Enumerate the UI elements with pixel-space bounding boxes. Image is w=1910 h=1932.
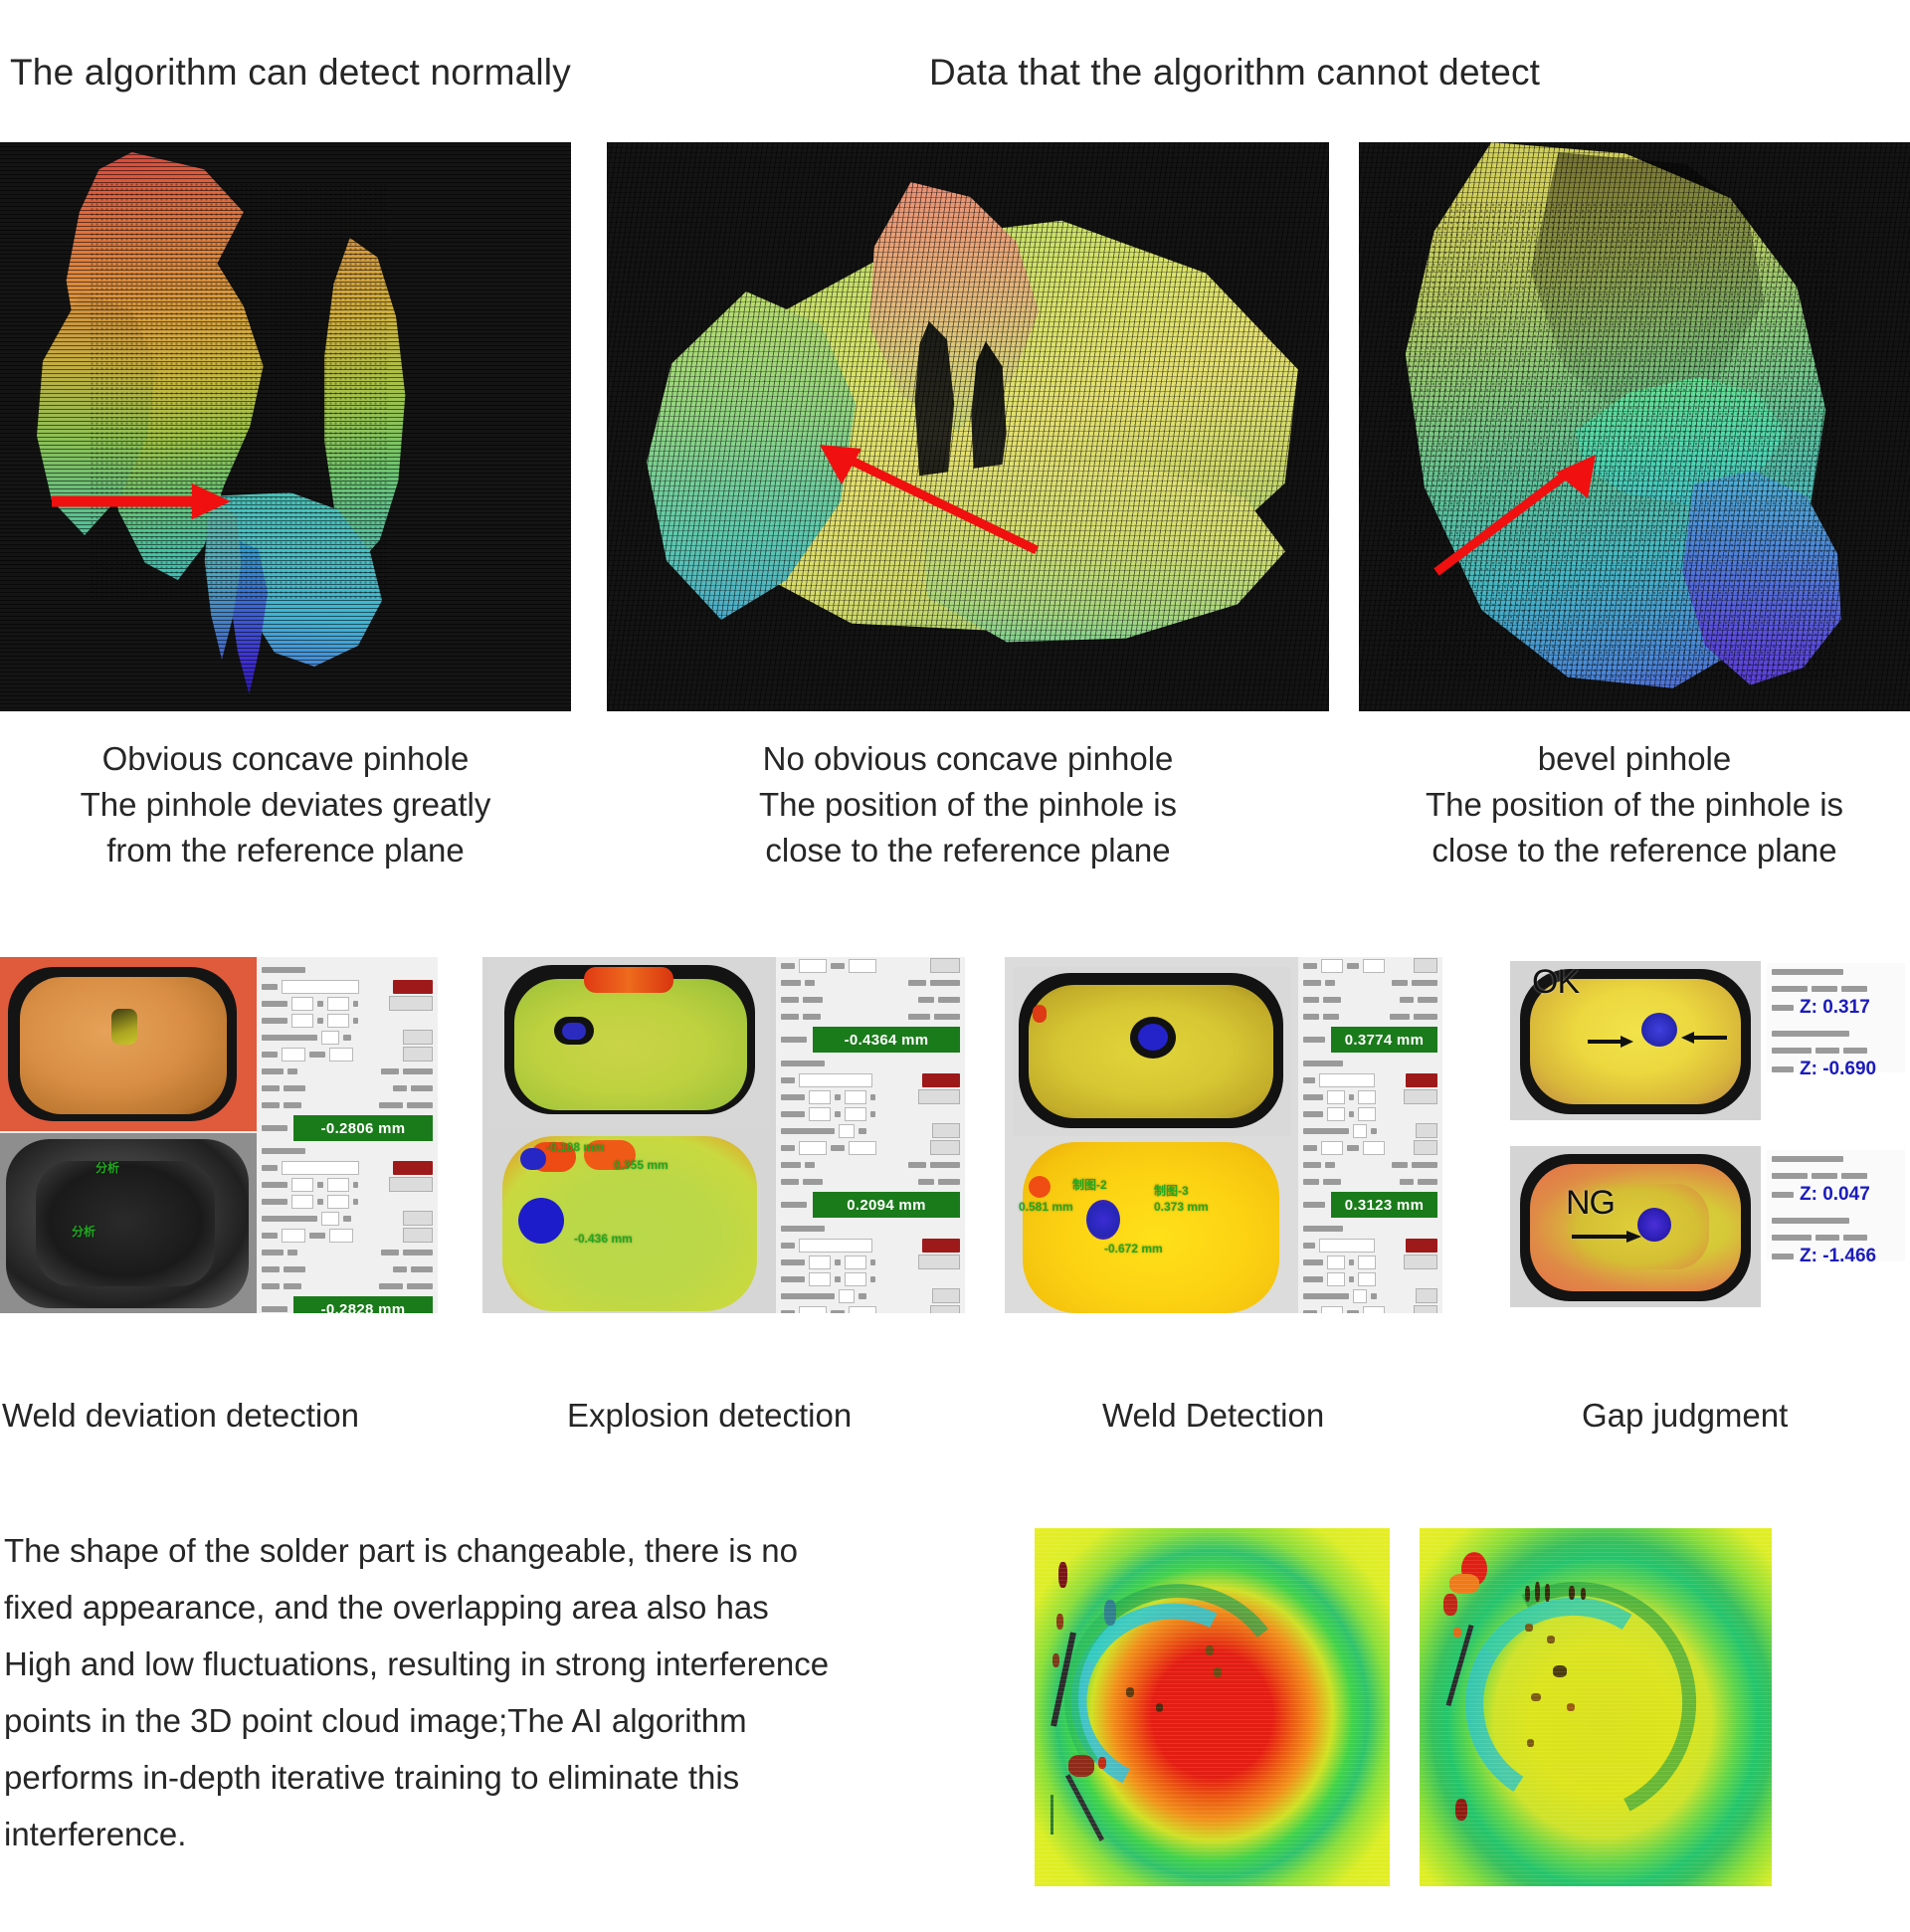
measurement-form-2: -0.4364 mm 0.2094 mm [776, 957, 965, 1313]
inspection-caption-2: Explosion detection [567, 1397, 852, 1435]
gap-sample-image-ng: NG [1510, 1146, 1761, 1307]
paragraph-line: fixed appearance, and the overlapping ar… [4, 1579, 1009, 1636]
inspection-caption-3: Weld Detection [1102, 1397, 1324, 1435]
sample-image-bottom: 制图-2 制图-3 0.581 mm 0.373 mm -0.672 mm [1013, 1142, 1291, 1313]
sample-images-2: -0.108 mm 0.355 mm -0.436 mm [482, 957, 776, 1313]
gap-readout-ok: Z: 0.317 Z: -0.690 [1767, 963, 1905, 1072]
measurement-form-3: 0.3774 mm 0.3123 mm [1298, 957, 1442, 1313]
black-arrow-right-ok [1677, 1031, 1727, 1045]
z-value: Z: 0.317 [1800, 997, 1870, 1019]
pointcloud-caption-1: Obvious concave pinhole The pinhole devi… [0, 736, 571, 873]
measurement-result: -0.4364 mm [813, 1027, 960, 1053]
caption-line: No obvious concave pinhole [597, 736, 1339, 782]
gap-sample-image-ok: OK [1510, 961, 1761, 1120]
green-annotation: -0.108 mm [546, 1140, 605, 1154]
paragraph-line: points in the 3D point cloud image;The A… [4, 1692, 1009, 1749]
section-headers: The algorithm can detect normally Data t… [0, 52, 1910, 101]
measurement-form-1: -0.2806 mm -0.2828 mm [257, 957, 438, 1313]
z-value: Z: 0.047 [1800, 1184, 1870, 1206]
measurement-result: 0.3123 mm [1331, 1192, 1437, 1218]
black-arrow-left-ok [1588, 1035, 1635, 1049]
measurement-result: -0.2828 mm [293, 1296, 433, 1313]
inspection-panel-gap-judgment: OK Z: 0.317 Z: -0.690 [1502, 957, 1905, 1313]
sample-image-bottom: -0.108 mm 0.355 mm -0.436 mm [488, 1132, 770, 1313]
header-right: Data that the algorithm cannot detect [929, 52, 1540, 94]
inspection-caption-1: Weld deviation detection [2, 1397, 359, 1435]
sample-images-3: 制图-2 制图-3 0.581 mm 0.373 mm -0.672 mm [1005, 957, 1298, 1313]
pointcloud-caption-3: bevel pinhole The position of the pinhol… [1359, 736, 1910, 873]
caption-line: The position of the pinhole is [597, 782, 1339, 828]
header-left: The algorithm can detect normally [10, 52, 571, 94]
green-annotation: 0.373 mm [1154, 1200, 1209, 1214]
measurement-result: 0.2094 mm [813, 1192, 960, 1218]
green-annotation: 分析 [72, 1225, 95, 1239]
pointcloud-caption-2: No obvious concave pinhole The position … [597, 736, 1339, 873]
measurement-result: -0.2806 mm [293, 1115, 433, 1141]
inspection-caption-4: Gap judgment [1582, 1397, 1788, 1435]
pointcloud-render-3 [1359, 142, 1910, 711]
sample-image-top [1013, 967, 1291, 1136]
green-annotation: -0.672 mm [1104, 1242, 1163, 1256]
red-arrow-indicator-2 [806, 433, 1045, 562]
caption-line: bevel pinhole [1359, 736, 1910, 782]
heatmap-high-deviation [1035, 1528, 1390, 1886]
paragraph-line: The shape of the solder part is changeab… [4, 1522, 1009, 1579]
inspection-panel-weld-detection: 制图-2 制图-3 0.581 mm 0.373 mm -0.672 mm 0.… [1005, 957, 1442, 1313]
caption-line: The position of the pinhole is [1359, 782, 1910, 828]
paragraph-line: performs in-depth iterative training to … [4, 1749, 1009, 1806]
inspection-row: 分析 分析 -0.2806 mm [0, 957, 1910, 1365]
gap-card-ok: OK Z: 0.317 Z: -0.690 [1502, 957, 1905, 1126]
pointcloud-render-1 [0, 142, 571, 711]
inspection-panel-weld-deviation-detection: 分析 分析 -0.2806 mm [0, 957, 438, 1313]
caption-line: close to the reference plane [597, 828, 1339, 873]
gap-card-ng: NG Z: 0.047 Z: -1.466 [1502, 1142, 1905, 1313]
z-value: Z: -1.466 [1800, 1246, 1876, 1267]
red-arrow-indicator-1 [48, 471, 247, 530]
pointcloud-panel-no-obvious-concave-pinhole [607, 142, 1329, 711]
pointcloud-render-2 [607, 142, 1329, 711]
inspection-panel-explosion-detection: -0.108 mm 0.355 mm -0.436 mm -0.4364 mm [482, 957, 965, 1313]
sample-image-top [488, 957, 770, 1128]
description-paragraph: The shape of the solder part is changeab… [4, 1522, 1009, 1862]
green-annotation: -0.436 mm [574, 1232, 633, 1246]
sample-image-grayscale: 分析 分析 [0, 1133, 257, 1313]
paragraph-line: interference. [4, 1806, 1009, 1862]
green-annotation: 分析 [95, 1161, 119, 1175]
pointcloud-panel-bevel-pinhole [1359, 142, 1910, 711]
green-annotation: 0.355 mm [614, 1158, 668, 1172]
measurement-result: 0.3774 mm [1331, 1027, 1437, 1053]
gap-readout-ng: Z: 0.047 Z: -1.466 [1767, 1150, 1905, 1261]
pointcloud-row [0, 142, 1910, 711]
verdict-label-ok: OK [1532, 963, 1579, 1002]
sample-images-1: 分析 分析 [0, 957, 257, 1313]
red-arrow-indicator-3 [1417, 451, 1616, 580]
black-arrow-ng [1572, 1230, 1643, 1244]
caption-line: The pinhole deviates greatly [0, 782, 571, 828]
caption-line: close to the reference plane [1359, 828, 1910, 873]
z-value: Z: -0.690 [1800, 1059, 1876, 1080]
heatmap-low-deviation [1420, 1528, 1772, 1886]
sample-image-color [0, 957, 257, 1131]
green-annotation: 0.581 mm [1019, 1200, 1073, 1214]
paragraph-line: High and low fluctuations, resulting in … [4, 1636, 1009, 1692]
caption-line: Obvious concave pinhole [0, 736, 571, 782]
green-annotation: 制图-3 [1154, 1184, 1189, 1198]
pointcloud-panel-obvious-concave-pinhole [0, 142, 571, 711]
heatmap-row [1035, 1528, 1890, 1886]
caption-line: from the reference plane [0, 828, 571, 873]
green-annotation: 制图-2 [1072, 1178, 1107, 1192]
verdict-label-ng: NG [1566, 1184, 1615, 1223]
